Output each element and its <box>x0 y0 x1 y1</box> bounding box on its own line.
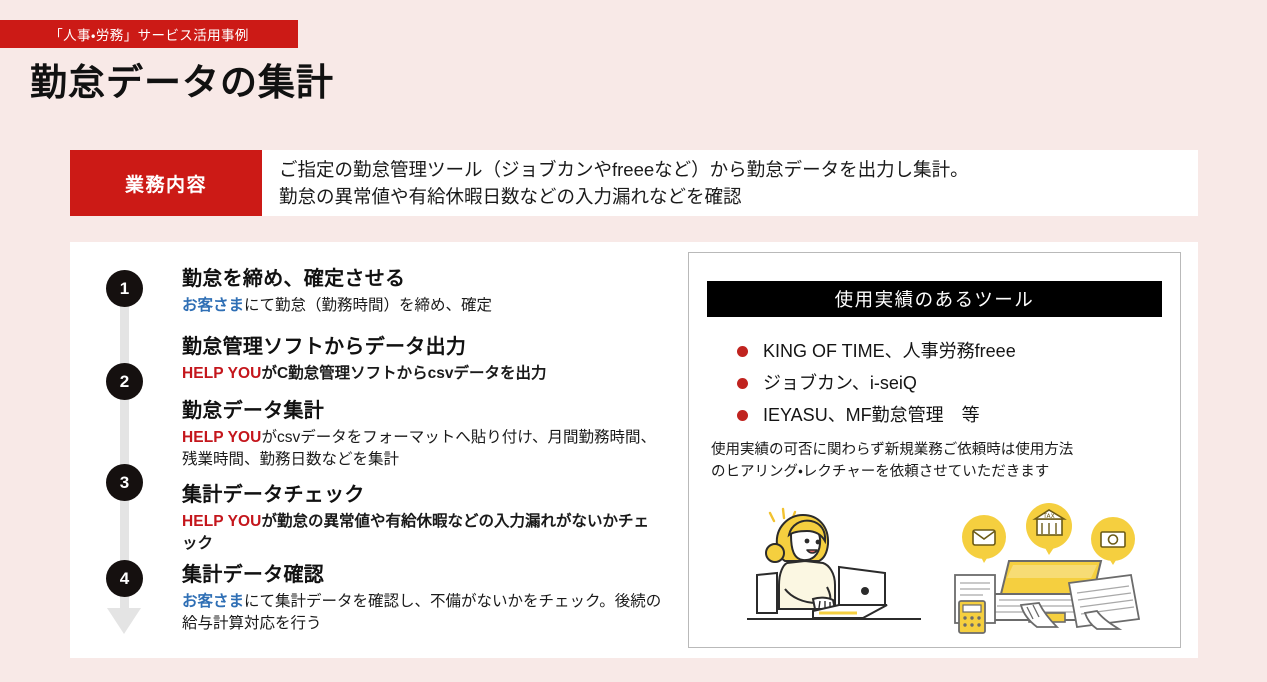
tools-card-header: 使用実績のあるツール <box>707 281 1162 317</box>
step-description: HELP YOUが勤怠の異常値や有給休暇などの入力漏れがないかチェック <box>182 511 662 555</box>
tools-list-item: IEYASU、MF勤怠管理 等 <box>737 399 1157 431</box>
step-actor-label: HELP YOU <box>182 513 261 530</box>
step-marker-3: 3 <box>106 464 143 501</box>
step-item: 勤怠管理ソフトからデータ出力 HELP YOUがC勤怠管理ソフトからcsvデータ… <box>182 334 662 385</box>
step-title: 勤怠を締め、確定させる <box>182 266 662 292</box>
step-description: HELP YOUがcsvデータをフォーマットへ貼り付け、月間勤務時間、残業時間、… <box>182 427 662 471</box>
summary-band: 業務内容 ご指定の勤怠管理ツール（ジョブカンやfreeeなど）から勤怠データを出… <box>70 150 1198 216</box>
bullet-icon <box>737 410 748 421</box>
step-item: 勤怠データ集計 HELP YOUがcsvデータをフォーマットへ貼り付け、月間勤務… <box>182 398 662 471</box>
tools-list-item-label: ジョブカン、i-seiQ <box>763 374 917 392</box>
category-tag-label: 「人事・労務」サービス活用事例 <box>49 24 249 44</box>
step-title: 集計データチェック <box>182 482 662 508</box>
main-content-panel: 1 2 3 4 勤怠を締め、確定させる お客さまにて勤怠（勤務時間）を締め、確定… <box>70 242 1198 658</box>
step-title: 勤怠データ集計 <box>182 398 662 424</box>
tools-note-line: のヒアリング・レクチャーを依頼させていただきます <box>711 461 1161 483</box>
bullet-icon <box>737 378 748 389</box>
step-actor-label: HELP YOU <box>182 429 261 446</box>
tools-card-header-label: 使用実績のあるツール <box>835 286 1035 312</box>
tools-list: KING OF TIME、人事労務freee ジョブカン、i-seiQ IEYA… <box>737 335 1157 431</box>
tools-card-note: 使用実績の可否に関わらず新規業務ご依頼時は使用方法 のヒアリング・レクチャーを依… <box>711 439 1161 484</box>
timeline-rail <box>120 278 129 608</box>
woman-at-laptop-illustration <box>739 501 929 636</box>
tools-note-line: 使用実績の可否に関わらず新規業務ご依頼時は使用方法 <box>711 439 1161 461</box>
svg-text:TAX: TAX <box>1042 513 1054 520</box>
desk-documents-icons-illustration: TAX <box>951 501 1151 636</box>
tools-list-item-label: IEYASU、MF勤怠管理 等 <box>763 406 980 424</box>
step-description-text: にて集計データを確認し、不備がないかをチェック。後続の給与計算対応を行う <box>182 593 661 632</box>
illustration-group: TAX <box>719 501 1159 641</box>
step-item: 集計データチェック HELP YOUが勤怠の異常値や有給休暇などの入力漏れがない… <box>182 482 662 555</box>
step-title: 勤怠管理ソフトからデータ出力 <box>182 334 662 360</box>
summary-label: 業務内容 <box>70 150 262 216</box>
step-actor-label: お客さま <box>182 593 244 610</box>
tools-list-item: ジョブカン、i-seiQ <box>737 367 1157 399</box>
summary-line: ご指定の勤怠管理ツール（ジョブカンやfreeeなど）から勤怠データを出力し集計。 <box>279 156 1190 183</box>
page-title: 勤怠データの集計 <box>30 62 334 105</box>
summary-line: 勤怠の異常値や有給休暇日数などの入力漏れなどを確認 <box>279 183 1190 210</box>
summary-text: ご指定の勤怠管理ツール（ジョブカンやfreeeなど）から勤怠データを出力し集計。… <box>262 150 1198 216</box>
step-marker-4: 4 <box>106 560 143 597</box>
step-actor-label: お客さま <box>182 297 244 314</box>
step-description: HELP YOUがC勤怠管理ソフトからcsvデータを出力 <box>182 363 662 385</box>
process-timeline: 1 2 3 4 勤怠を締め、確定させる お客さまにて勤怠（勤務時間）を締め、確定… <box>70 242 670 658</box>
tools-list-item-label: KING OF TIME、人事労務freee <box>763 342 1016 360</box>
step-actor-label: HELP YOU <box>182 365 261 382</box>
step-description-text: がC勤怠管理ソフトからcsvデータを出力 <box>261 365 546 382</box>
step-description-text: にて勤怠（勤務時間）を締め、確定 <box>244 297 492 314</box>
timeline-arrow-icon <box>107 608 141 634</box>
step-marker-1: 1 <box>106 270 143 307</box>
category-tag-banner: 「人事・労務」サービス活用事例 <box>0 20 298 48</box>
step-description: お客さまにて集計データを確認し、不備がないかをチェック。後続の給与計算対応を行う <box>182 591 662 635</box>
tools-list-item: KING OF TIME、人事労務freee <box>737 335 1157 367</box>
tools-card: 使用実績のあるツール KING OF TIME、人事労務freee ジョブカン、… <box>688 252 1181 648</box>
step-marker-2: 2 <box>106 363 143 400</box>
step-title: 集計データ確認 <box>182 562 662 588</box>
step-item: 勤怠を締め、確定させる お客さまにて勤怠（勤務時間）を締め、確定 <box>182 266 662 317</box>
step-item: 集計データ確認 お客さまにて集計データを確認し、不備がないかをチェック。後続の給… <box>182 562 662 635</box>
step-description: お客さまにて勤怠（勤務時間）を締め、確定 <box>182 295 662 317</box>
bullet-icon <box>737 346 748 357</box>
